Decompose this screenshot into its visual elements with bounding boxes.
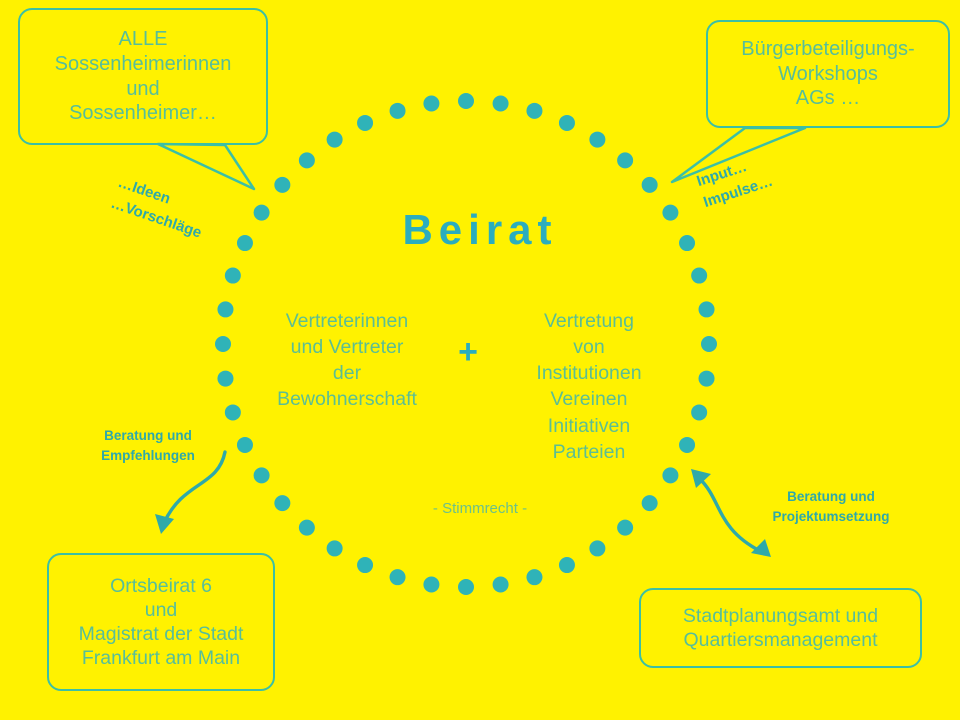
ring-dot (274, 177, 290, 193)
box-stadtplanungsamt[interactable]: Stadtplanungsamt und Quartiersmanagement (639, 588, 922, 668)
ring-dot (299, 152, 315, 168)
ring-dot (357, 557, 373, 573)
callout-box-buergerinnen-text: ALLE Sossenheimerinnen und Sossenheimer… (20, 27, 266, 126)
ring-dot (642, 177, 658, 193)
label-beratung-projektumsetzung: Beratung und Projektumsetzung (746, 487, 916, 528)
ring-dot (691, 268, 707, 284)
ring-dot (458, 579, 474, 595)
arrowhead-stadtplanungsamt-lower (751, 539, 771, 557)
ring-dot (225, 404, 241, 420)
plus-icon: + (445, 334, 491, 371)
arrowhead-ortsbeirat (155, 514, 174, 534)
ring-dot (526, 103, 542, 119)
beirat-right-column: Vertretung von Institutionen Vereinen In… (500, 308, 678, 465)
ring-dot (617, 152, 633, 168)
ring-dot (493, 95, 509, 111)
ring-dot (390, 103, 406, 119)
box-ortsbeirat-text: Ortsbeirat 6 und Magistrat der Stadt Fra… (49, 574, 273, 671)
callout-box-buergerinnen[interactable]: ALLE Sossenheimerinnen und Sossenheimer… (18, 8, 268, 145)
ring-dot (691, 404, 707, 420)
ring-dot (458, 93, 474, 109)
ring-dot (589, 540, 605, 556)
ring-dot (423, 95, 439, 111)
box-ortsbeirat[interactable]: Ortsbeirat 6 und Magistrat der Stadt Fra… (47, 553, 275, 691)
ring-dot (225, 268, 241, 284)
diagram-canvas: ALLE Sossenheimerinnen und Sossenheimer…… (0, 0, 960, 720)
ring-dot (559, 115, 575, 131)
ring-dot (701, 336, 717, 352)
ring-dot (589, 132, 605, 148)
ring-dot (679, 437, 695, 453)
ring-dot (217, 301, 233, 317)
ring-dot (526, 569, 542, 585)
beirat-composition: Vertreterinnen und Vertreter der Bewohne… (258, 308, 678, 488)
ring-dot (299, 520, 315, 536)
ring-dot (699, 371, 715, 387)
ring-dot (357, 115, 373, 131)
ring-dot (237, 437, 253, 453)
ring-dot (217, 371, 233, 387)
ring-dot (327, 540, 343, 556)
ring-dot (617, 520, 633, 536)
ring-dot (390, 569, 406, 585)
beirat-left-column: Vertreterinnen und Vertreter der Bewohne… (258, 308, 436, 413)
arrowhead-stadtplanungsamt-upper (691, 469, 711, 488)
ring-dot (215, 336, 231, 352)
box-stadtplanungsamt-text: Stadtplanungsamt und Quartiersmanagement (641, 604, 920, 652)
label-beratung-empfehlungen: Beratung und Empfehlungen (78, 426, 218, 467)
ring-dot (423, 577, 439, 593)
label-input-impulse: Input… Impulse… (694, 150, 776, 214)
callout-box-workshops[interactable]: Bürgerbeteiligungs- Workshops AGs … (706, 20, 950, 128)
ring-dot (559, 557, 575, 573)
ring-dot (699, 301, 715, 317)
ring-dot (493, 577, 509, 593)
callout-box-workshops-text: Bürgerbeteiligungs- Workshops AGs … (708, 37, 948, 111)
callout-tail-buergerinnen (158, 144, 254, 189)
ring-dot (327, 132, 343, 148)
